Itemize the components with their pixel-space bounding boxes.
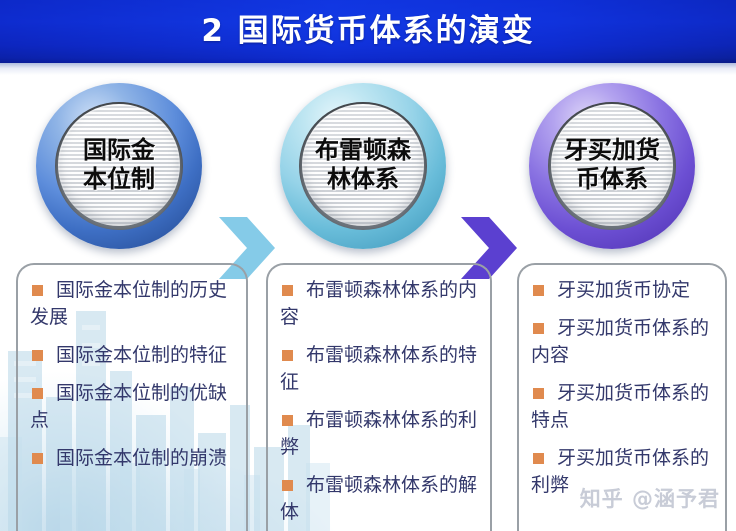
node-ring: 国际金 本位制 [36, 83, 202, 249]
list-item-label: 布雷顿森林体系的特征 [280, 344, 477, 393]
list-item[interactable]: 牙买加货币体系的内容 [531, 315, 717, 369]
bullet-square-icon [282, 350, 293, 361]
flow-diagram: 国际金 本位制 布雷顿森 林体系 [0, 80, 736, 258]
list-item-label: 牙买加货币体系的内容 [531, 317, 709, 366]
slide-canvas: 2 国际货币体系的演变 国际金 本位制 布雷顿森 林体系 [0, 0, 736, 531]
bullet-square-icon [533, 388, 544, 399]
list-item-label: 布雷顿森林体系的内容 [280, 279, 477, 328]
list-item-label: 国际金本位制的崩溃 [56, 447, 227, 469]
list-item-label: 国际金本位制的历史发展 [30, 279, 227, 328]
node-ring: 布雷顿森 林体系 [280, 83, 446, 249]
list-item-label: 布雷顿森林体系的解体 [280, 474, 477, 523]
list-item[interactable]: 布雷顿森林体系的利弊 [280, 407, 482, 461]
node-label: 国际金 本位制 [83, 136, 155, 194]
bullet-square-icon [533, 323, 544, 334]
list-item[interactable]: 牙买加货币体系的利弊 [531, 445, 717, 499]
list-item-label: 牙买加货币体系的特点 [531, 382, 709, 431]
list-item-label: 牙买加货币体系的利弊 [531, 447, 709, 496]
node-bretton-woods[interactable]: 布雷顿森 林体系 [272, 80, 454, 252]
content-columns: 国际金本位制的历史发展 国际金本位制的特征 国际金本位制的优缺点 国际金本位制的… [0, 263, 736, 531]
node-label: 布雷顿森 林体系 [315, 136, 411, 194]
bullet-square-icon [32, 388, 43, 399]
list-item[interactable]: 国际金本位制的特征 [30, 342, 238, 369]
bullet-square-icon [533, 285, 544, 296]
slide-header: 2 国际货币体系的演变 [0, 0, 736, 63]
list-item[interactable]: 牙买加货币协定 [531, 277, 717, 304]
bullet-square-icon [32, 285, 43, 296]
node-disc: 国际金 本位制 [58, 104, 180, 226]
list-item[interactable]: 布雷顿森林体系的内容 [280, 277, 482, 331]
list-jamaica: 牙买加货币协定 牙买加货币体系的内容 牙买加货币体系的特点 牙买加货币体系的利弊 [517, 263, 727, 531]
node-gold-standard[interactable]: 国际金 本位制 [28, 80, 210, 252]
list-item-label: 布雷顿森林体系的利弊 [280, 409, 477, 458]
list-bretton-woods: 布雷顿森林体系的内容 布雷顿森林体系的特征 布雷顿森林体系的利弊 布雷顿森林体系… [266, 263, 492, 531]
bullet-square-icon [282, 415, 293, 426]
list-gold-standard: 国际金本位制的历史发展 国际金本位制的特征 国际金本位制的优缺点 国际金本位制的… [16, 263, 248, 531]
bullet-square-icon [533, 453, 544, 464]
list-item[interactable]: 国际金本位制的优缺点 [30, 380, 238, 434]
list-item[interactable]: 国际金本位制的崩溃 [30, 445, 238, 472]
page-title: 2 国际货币体系的演变 [0, 2, 736, 60]
node-disc: 布雷顿森 林体系 [302, 104, 424, 226]
bullet-square-icon [282, 285, 293, 296]
node-ring: 牙买加货 币体系 [529, 83, 695, 249]
node-jamaica[interactable]: 牙买加货 币体系 [521, 80, 703, 252]
node-disc: 牙买加货 币体系 [551, 104, 673, 226]
list-item-label: 国际金本位制的特征 [56, 344, 227, 366]
list-item[interactable]: 布雷顿森林体系的特征 [280, 342, 482, 396]
bullet-square-icon [282, 480, 293, 491]
list-item-label: 国际金本位制的优缺点 [30, 382, 227, 431]
list-item[interactable]: 牙买加货币体系的特点 [531, 380, 717, 434]
list-item[interactable]: 布雷顿森林体系的解体 [280, 472, 482, 526]
bullet-square-icon [32, 350, 43, 361]
bullet-square-icon [32, 453, 43, 464]
node-label: 牙买加货 币体系 [564, 136, 660, 194]
list-item[interactable]: 国际金本位制的历史发展 [30, 277, 238, 331]
list-item-label: 牙买加货币协定 [557, 279, 690, 301]
